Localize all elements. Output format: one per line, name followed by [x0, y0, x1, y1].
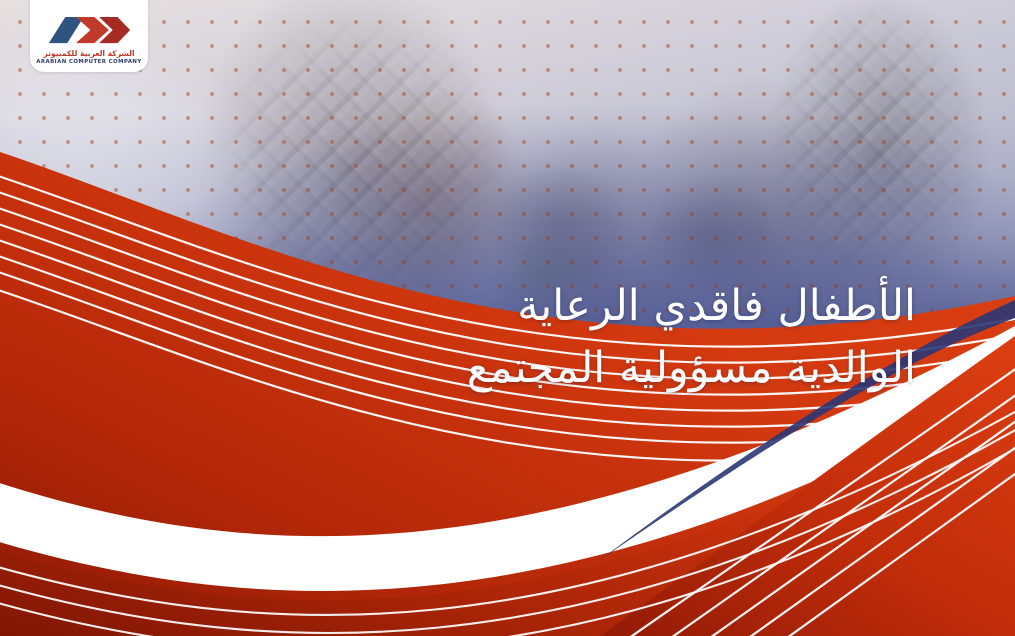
- headline: الأطفال فاقدي الرعاية الوالدية مسؤولية ا…: [156, 276, 916, 400]
- brand-english-name: ARABIAN COMPUTER COMPANY: [36, 58, 142, 66]
- headline-line-2: الوالدية مسؤولية المجتمع: [156, 338, 916, 400]
- poster-canvas: الأطفال فاقدي الرعاية الوالدية مسؤولية ا…: [0, 0, 1015, 636]
- headline-line-1: الأطفال فاقدي الرعاية: [156, 276, 916, 338]
- brand-arabic-name: الشركة العربية للكمبيوتر: [43, 50, 134, 58]
- brand-logo-card[interactable]: الشركة العربية للكمبيوتر ARABIAN COMPUTE…: [30, 0, 148, 72]
- acc-chevron-logo-icon: [47, 16, 131, 46]
